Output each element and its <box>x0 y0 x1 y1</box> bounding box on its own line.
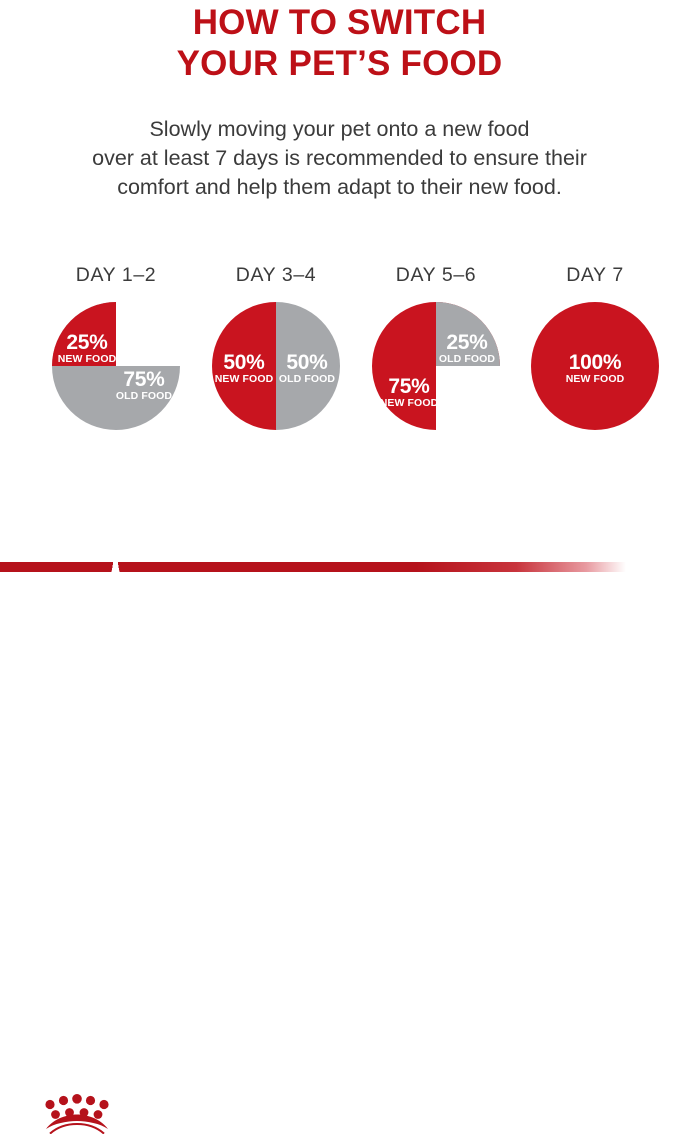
slice-pct-old-food-1: 75% <box>112 369 176 390</box>
slice-term-new-food-4: NEW FOOD <box>557 374 633 385</box>
intro-paragraph: Slowly moving your pet onto a new food o… <box>0 115 679 202</box>
pie-chart-group-day-1-2: DAY 1–2 25% NEW FOOD 75% OLD FOOD <box>36 262 196 430</box>
infographic-page: HOW TO SWITCH YOUR PET’S FOOD Slowly mov… <box>0 0 679 594</box>
pie-chart-day-1-2: 25% NEW FOOD 75% OLD FOOD <box>52 302 180 430</box>
slice-label-old-food-3: 25% OLD FOOD <box>436 332 498 365</box>
intro-line-2: over at least 7 days is recommended to e… <box>0 144 679 173</box>
pie-chart-day-7: 100% NEW FOOD <box>531 302 659 430</box>
slice-pct-new-food-1: 25% <box>56 332 118 353</box>
slice-label-old-food-1: 75% OLD FOOD <box>112 369 176 402</box>
slice-pct-new-food-3: 75% <box>376 376 442 397</box>
slice-label-new-food-4: 100% NEW FOOD <box>557 352 633 385</box>
pie-chart-group-day-5-6: DAY 5–6 75% NEW FOOD 25% OLD FOOD <box>356 262 516 430</box>
slice-label-new-food-1: 25% NEW FOOD <box>56 332 118 365</box>
slice-pct-new-food-4: 100% <box>557 352 633 373</box>
pie-chart-row: DAY 1–2 25% NEW FOOD 75% OLD FOOD <box>0 262 679 442</box>
day-label-3: DAY 5–6 <box>356 262 516 288</box>
slice-label-new-food-2: 50% NEW FOOD <box>213 352 275 385</box>
slice-label-new-food-3: 75% NEW FOOD <box>376 376 442 409</box>
pie-chart-group-day-3-4: DAY 3–4 50% NEW FOOD 50% OLD FOOD <box>196 262 356 430</box>
day-label-2: DAY 3–4 <box>196 262 356 288</box>
footer-bar-left <box>0 562 110 572</box>
slice-pct-old-food-3: 25% <box>436 332 498 353</box>
page-title: HOW TO SWITCH YOUR PET’S FOOD <box>0 2 679 84</box>
day-label-4: DAY 7 <box>515 262 675 288</box>
title-line-2: YOUR PET’S FOOD <box>0 43 679 84</box>
title-line-1: HOW TO SWITCH <box>0 2 679 43</box>
slice-pct-new-food-2: 50% <box>213 352 275 373</box>
slice-term-new-food-3: NEW FOOD <box>376 398 442 409</box>
day-label-1: DAY 1–2 <box>36 262 196 288</box>
pie-chart-day-3-4: 50% NEW FOOD 50% OLD FOOD <box>212 302 340 430</box>
footer <box>0 540 679 594</box>
pie-svg-1 <box>52 302 180 430</box>
royal-canin-crown-logo-icon <box>38 1092 116 1134</box>
footer-bar-right <box>116 562 679 572</box>
intro-line-1: Slowly moving your pet onto a new food <box>0 115 679 144</box>
pie-svg-3 <box>372 302 500 430</box>
slice-term-old-food-2: OLD FOOD <box>276 374 338 385</box>
slice-pct-old-food-2: 50% <box>276 352 338 373</box>
intro-line-3: comfort and help them adapt to their new… <box>0 173 679 202</box>
slice-label-old-food-2: 50% OLD FOOD <box>276 352 338 385</box>
slice-term-old-food-1: OLD FOOD <box>112 391 176 402</box>
slice-term-old-food-3: OLD FOOD <box>436 354 498 365</box>
slice-term-new-food-2: NEW FOOD <box>213 374 275 385</box>
slice-term-new-food-1: NEW FOOD <box>56 354 118 365</box>
pie-chart-day-5-6: 75% NEW FOOD 25% OLD FOOD <box>372 302 500 430</box>
pie-chart-group-day-7: DAY 7 100% NEW FOOD <box>515 262 675 430</box>
